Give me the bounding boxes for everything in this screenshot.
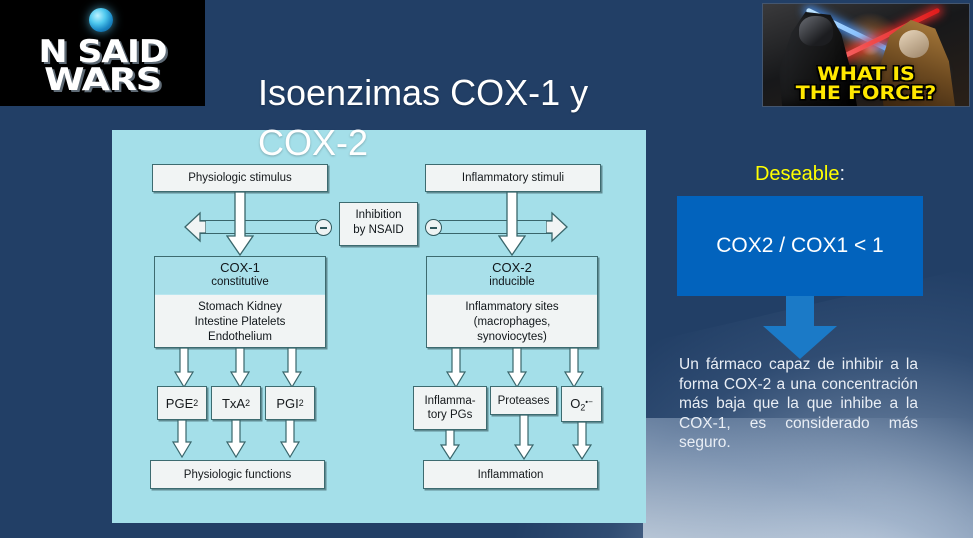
arrow-stimuli-to-cox2 [498, 192, 526, 256]
box-cox2: COX-2 inducible Inflammatory sites (macr… [426, 256, 598, 348]
box-inhibition-by-nsaid: Inhibition by NSAID [339, 202, 418, 246]
box-inflammation: Inflammation [423, 460, 598, 489]
cox1-body-line3: Endothelium [159, 330, 321, 345]
arrow-cox2-to-proteases [507, 348, 527, 388]
arrow-pge2-to-functions [172, 420, 192, 458]
inhibition-arrowhead-right [546, 211, 568, 243]
inhibition-line-left-top [198, 220, 318, 221]
box-pgi2: PGI2 [265, 386, 315, 420]
arrow-cox2-to-inflammatory-pgs [446, 348, 466, 388]
arrow-stimulus-to-cox1 [226, 192, 254, 256]
inhibition-arrowhead-left [184, 211, 206, 243]
box-proteases: Proteases [490, 386, 557, 415]
arrow-cox1-to-pge2 [174, 348, 194, 388]
cox-ratio-box: COX2 / COX1 < 1 [677, 196, 923, 296]
arrow-cox1-to-pgi2 [282, 348, 302, 388]
cox2-body-line3: synoviocytes) [431, 330, 593, 345]
box-cox1: COX-1 constitutive Stomach Kidney Intest… [154, 256, 326, 348]
minus-sign-left-icon [315, 219, 332, 236]
arrow-proteases-to-inflammation [514, 415, 534, 460]
down-arrow-icon [762, 296, 838, 360]
cox2-body-line1: Inflammatory sites [431, 300, 593, 315]
force-thumbnail-caption: WHAT IS THE FORCE? [762, 65, 970, 103]
inhibition-line-left-bot [198, 233, 318, 234]
box-physiologic-functions: Physiologic functions [150, 460, 325, 489]
arrow-cox2-to-superoxide [564, 348, 584, 388]
cox2-body: Inflammatory sites (macrophages, synovio… [427, 295, 597, 351]
arrow-superoxide-to-inflammation [572, 422, 592, 460]
nsaid-wars-logo-line2: WARS [0, 62, 205, 98]
cox1-body: Stomach Kidney Intestine Platelets Endot… [155, 295, 325, 351]
arrow-pgi2-to-functions [280, 420, 300, 458]
cox1-title: COX-1 [155, 261, 325, 275]
deseable-colon: : [839, 163, 845, 185]
minus-sign-right-icon [425, 219, 442, 236]
box-pge2: PGE2 [157, 386, 207, 420]
cox2-title: COX-2 [427, 261, 597, 275]
force-caption-line2: THE FORCE? [762, 84, 970, 103]
slide-canvas: N SAID WARS WHAT IS THE FORCE? Isoenzima… [0, 0, 973, 538]
nsaid-wars-logo: N SAID WARS [0, 0, 205, 106]
page-title: Isoenzimas COX-1 y COX-2 [258, 68, 678, 168]
inhibition-line2: by NSAID [344, 223, 413, 238]
box-superoxide: O2•− [561, 386, 602, 422]
what-is-the-force-thumbnail: WHAT IS THE FORCE? [762, 3, 970, 107]
planet-icon [89, 8, 113, 32]
cox1-subtitle: constitutive [155, 275, 325, 289]
arrow-cox1-to-txa2 [230, 348, 250, 388]
cox1-header: COX-1 constitutive [155, 257, 325, 295]
box-inflammatory-pgs: Inflamma-tory PGs [413, 386, 487, 430]
arrow-inflammatory-pgs-to-inflammation [440, 430, 460, 460]
box-physiologic-stimulus: Physiologic stimulus [152, 164, 328, 192]
arrow-txa2-to-functions [226, 420, 246, 458]
deseable-label: Deseable: [677, 163, 923, 186]
deseable-text: Deseable [755, 163, 840, 185]
explanation-paragraph: Un fármaco capaz de inhibir a la forma C… [679, 355, 918, 453]
cox1-body-line2: Intestine Platelets [159, 315, 321, 330]
cox-ratio-text: COX2 / COX1 < 1 [716, 234, 884, 258]
cox2-header: COX-2 inducible [427, 257, 597, 295]
cox2-subtitle: inducible [427, 275, 597, 289]
inhibition-line1: Inhibition [344, 208, 413, 223]
box-inflammatory-stimuli: Inflammatory stimuli [425, 164, 601, 192]
cox1-body-line1: Stomach Kidney [159, 300, 321, 315]
box-txa2: TxA2 [211, 386, 261, 420]
cox2-body-line2: (macrophages, [431, 315, 593, 330]
cox-pathway-diagram: Physiologic stimulus Inflammatory stimul… [112, 130, 646, 523]
